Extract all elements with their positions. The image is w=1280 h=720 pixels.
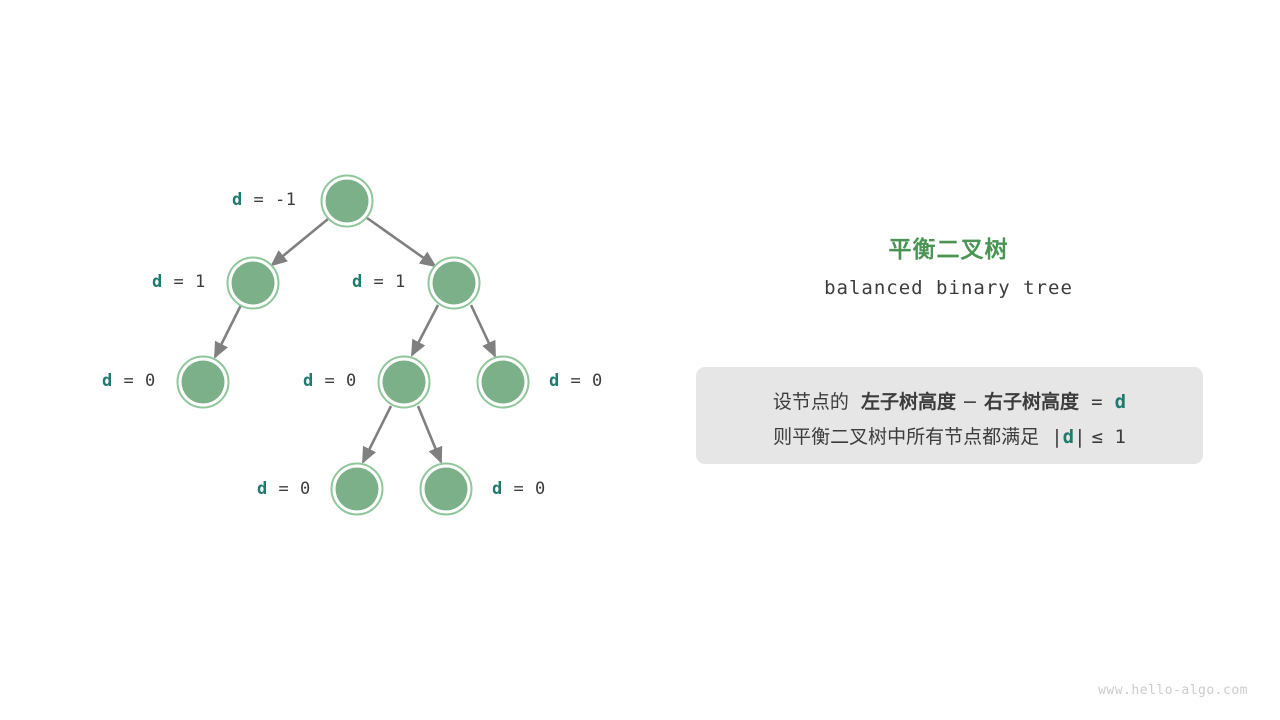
page-subtitle: balanced binary tree [660,277,1237,299]
balance-label-value: = 0 [113,371,156,391]
balance-label-left: d = 1 [152,274,206,291]
definition-var-d: d [1063,426,1074,448]
tree-node-right [429,258,480,309]
tree-edge [412,305,438,355]
definition-line-1: 设节点的 左子树高度 − 右子树高度 = d [696,393,1203,412]
tree-nodes [178,176,529,515]
balance-label-right-left: d = 0 [303,373,357,390]
tree-node-right-left [379,357,430,408]
balance-label-value: = 1 [363,272,406,292]
abs-bar-left: | [1051,426,1062,448]
tree-node-left [228,258,279,309]
balance-label-var: d [352,272,363,292]
balance-label-right-right: d = 0 [549,373,603,390]
tree-edge [272,219,328,265]
definition-var-d: d [1115,391,1126,413]
balance-label-left-left: d = 0 [102,373,156,390]
balance-label-value: = 0 [314,371,357,391]
balance-label-root: d = -1 [232,192,296,209]
tree-node-right-left-right [421,464,472,515]
balance-label-value: = 0 [268,479,311,499]
balance-label-var: d [152,272,163,292]
definition-right-height: 右子树高度 [984,391,1079,413]
balance-label-value: = 0 [503,479,546,499]
balance-label-var: d [303,371,314,391]
definition-relation: ≤ 1 [1092,426,1126,448]
balance-label-var: d [232,190,243,210]
tree-graphics [0,0,660,720]
balance-label-var: d [257,479,268,499]
balance-label-value: = 1 [163,272,206,292]
definition-left-height: 左子树高度 [861,391,956,413]
definition-equals: = [1091,391,1102,413]
page-title: 平衡二叉树 [660,230,1237,264]
watermark: www.hello-algo.com [1098,683,1248,698]
binary-tree-diagram: d = -1 d = 1 d = 1 d = 0 d = 0 d = 0 d =… [0,0,660,720]
definition-condition-prefix: 则平衡二叉树中所有节点都满足 [773,426,1039,448]
balance-label-value: = 0 [560,371,603,391]
tree-edge [367,218,435,266]
tree-edge [363,406,391,462]
balance-label-right-left-left: d = 0 [257,481,311,498]
definition-box: 设节点的 左子树高度 − 右子树高度 = d 则平衡二叉树中所有节点都满足 |d… [696,367,1203,464]
tree-edge [215,305,241,357]
definition-minus: − [962,391,978,413]
balance-label-var: d [549,371,560,391]
definition-prefix: 设节点的 [773,391,849,413]
tree-node-right-left-left [332,464,383,515]
tree-node-left-left [178,357,229,408]
balance-label-right: d = 1 [352,274,406,291]
tree-edge [471,305,495,356]
tree-edge [418,406,441,462]
balance-label-var: d [492,479,503,499]
tree-node-right-right [478,357,529,408]
definition-line-2: 则平衡二叉树中所有节点都满足 |d| ≤ 1 [696,428,1203,447]
abs-bar-right: | [1074,426,1085,448]
balance-label-right-left-right: d = 0 [492,481,546,498]
tree-node-root [322,176,373,227]
info-panel: 平衡二叉树 balanced binary tree 设节点的 左子树高度 − … [660,0,1280,720]
tree-edges [215,218,495,462]
balance-label-value: = -1 [243,190,297,210]
balance-label-var: d [102,371,113,391]
